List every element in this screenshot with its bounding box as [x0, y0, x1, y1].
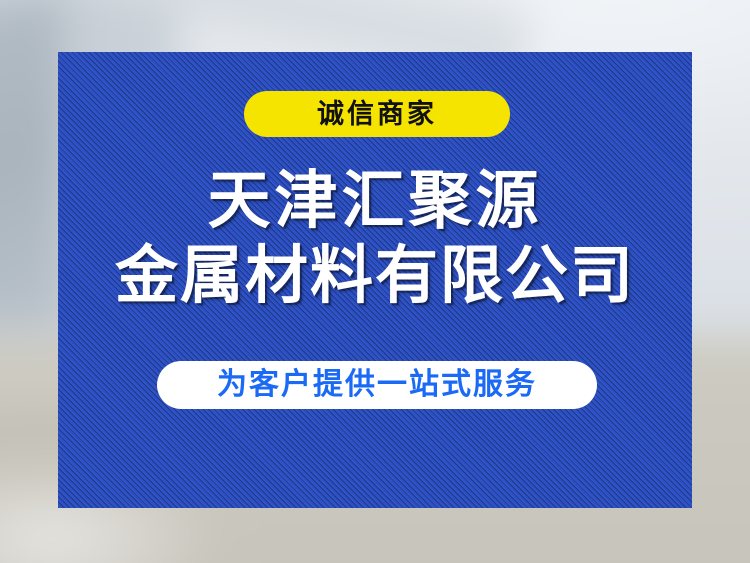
- trust-badge-label: 诚信商家: [317, 101, 437, 128]
- content-panel: 诚信商家 天津汇聚源 金属材料有限公司 为客户提供一站式服务: [58, 52, 692, 508]
- slogan-label: 为客户提供一站式服务: [217, 370, 537, 400]
- background-building-window: [0, 0, 63, 322]
- promo-banner: 诚信商家 天津汇聚源 金属材料有限公司 为客户提供一站式服务: [0, 0, 750, 563]
- trust-badge: 诚信商家: [244, 91, 510, 137]
- company-title: 天津汇聚源 金属材料有限公司: [58, 170, 692, 308]
- slogan-pill: 为客户提供一站式服务: [157, 361, 597, 409]
- company-title-line-2: 金属材料有限公司: [58, 245, 692, 308]
- company-title-line-1: 天津汇聚源: [58, 170, 692, 233]
